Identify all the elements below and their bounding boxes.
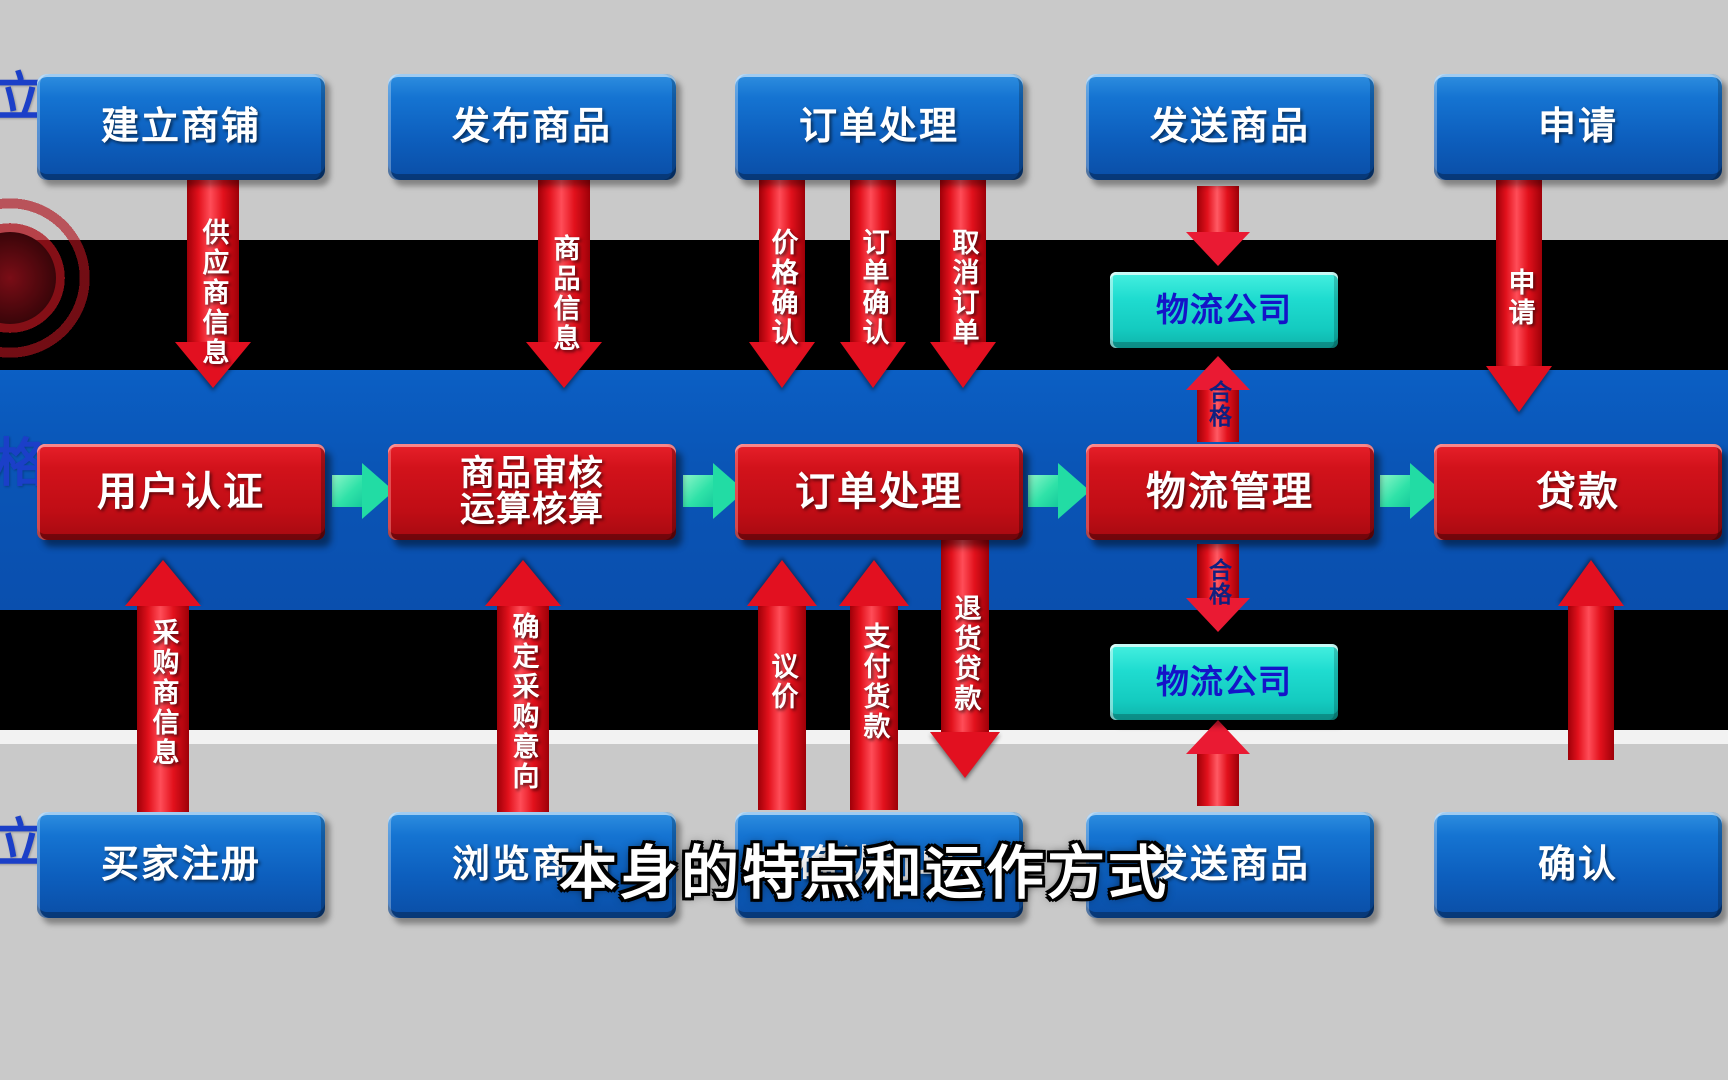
chevron-right-icon-4 [1380,463,1442,519]
node-build-shop[interactable]: 建立商铺 [37,74,325,180]
arrow-to-logistics-upper [1186,186,1250,266]
node-label: 物流公司 [1156,665,1292,699]
arrow-label: 供应商信息 [200,218,227,368]
node-label: 物流管理 [1146,472,1314,513]
node-send-goods-top[interactable]: 发送商品 [1086,74,1374,180]
arrow-label: 订单确认 [860,228,887,348]
arrow-label: 确定采购意向 [510,612,537,792]
arrow-supplier-info: 供应商信息 [174,176,252,388]
node-label: 发布商品 [452,108,612,147]
arrow-qualified-lower: 合格 [1186,544,1250,636]
node-goods-review[interactable]: 商品审核 运算核算 [388,444,676,540]
arrow-label: 申请 [1506,268,1533,328]
node-label: 订单处理 [795,472,963,513]
arrow-label: 议价 [769,652,796,712]
arrow-from-bottom-logistics [1186,720,1250,806]
qualified-label: 合格 [1207,558,1230,606]
node-label: 建立商铺 [101,108,261,147]
arrow-return-right [1556,560,1626,760]
node-logistics-company-upper[interactable]: 物流公司 [1110,272,1338,348]
node-label: 贷款 [1536,472,1620,513]
arrow-apply: 申请 [1484,176,1554,420]
arrow-label: 价格确认 [769,228,796,348]
arrow-goods-info: 商品信息 [525,176,603,388]
arrow-pay-payment: 支付货款 [836,560,912,810]
arrow-label: 取消订单 [950,228,977,348]
node-publish-goods[interactable]: 发布商品 [388,74,676,180]
arrow-qualified-upper: 合格 [1186,356,1250,442]
diagram-canvas: 立 格 立 供应商信息 商品信息 价格确认 订单确认 取消订单 申请 采购商信息 [0,0,1728,1080]
chevron-right-icon-3 [1028,463,1090,519]
qualified-label: 合格 [1207,380,1230,428]
node-user-auth[interactable]: 用户认证 [37,444,325,540]
node-label: 商品审核 运算核算 [460,456,604,527]
arrow-cancel-order: 取消订单 [928,176,998,388]
arrow-label: 退货贷款 [952,594,979,714]
arrow-label: 支付货款 [861,622,888,742]
node-label: 发送商品 [1150,108,1310,147]
node-apply-top[interactable]: 申请 [1434,74,1722,180]
arrow-negotiate-price: 议价 [744,560,820,810]
arrow-return-loan: 退货贷款 [928,536,1002,784]
arrow-label: 采购商信息 [150,618,177,768]
arrow-price-confirm: 价格确认 [747,176,817,388]
node-logistics-management[interactable]: 物流管理 [1086,444,1374,540]
chevron-right-icon-1 [332,463,394,519]
node-order-process-top[interactable]: 订单处理 [735,74,1023,180]
arrow-confirm-purchase: 确定采购意向 [484,560,562,820]
node-label: 订单处理 [799,108,959,147]
arrow-purchaser-info: 采购商信息 [124,560,202,820]
node-label: 用户认证 [97,472,265,513]
arrow-order-confirm: 订单确认 [838,176,908,388]
node-logistics-company-lower[interactable]: 物流公司 [1110,644,1338,720]
arrow-label: 商品信息 [551,234,578,354]
node-label: 申请 [1538,108,1618,147]
node-label: 物流公司 [1156,293,1292,327]
node-order-process[interactable]: 订单处理 [735,444,1023,540]
node-loan-management[interactable]: 贷款 [1434,444,1722,540]
subtitle-caption: 本身的特点和运作方式 [0,826,1728,910]
